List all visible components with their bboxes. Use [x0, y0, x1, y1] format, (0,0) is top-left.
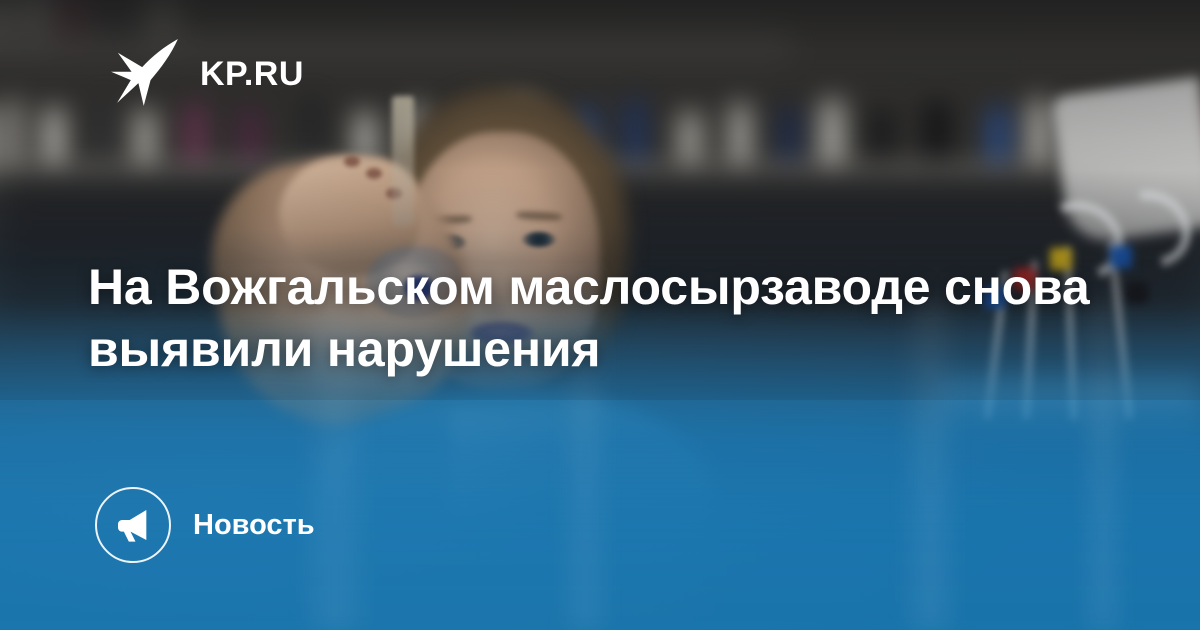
social-share-card: KP.RU На Вожгальском маслосырзаводе снов… [0, 0, 1200, 630]
status-badge[interactable]: Новость [95, 487, 315, 563]
megaphone-icon [113, 505, 153, 545]
page-title: На Вожгальском маслосырзаводе снова выяв… [88, 256, 1098, 380]
swallow-bird-icon [108, 36, 184, 112]
badge-label: Новость [193, 511, 315, 540]
badge-icon-circle [95, 487, 171, 563]
brand-name: KP.RU [200, 57, 304, 91]
brand-logo[interactable]: KP.RU [108, 36, 304, 112]
